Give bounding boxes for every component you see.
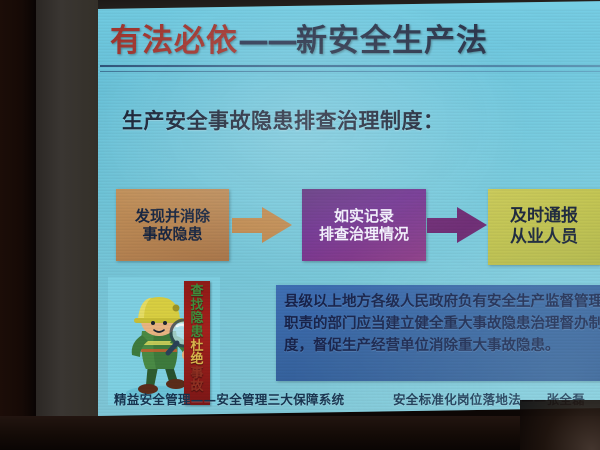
room-frame-left-dark (0, 0, 36, 450)
room-frame-left-panel (36, 0, 98, 450)
flow-box-discover-line2: 事故隐患 (142, 225, 202, 243)
flow-box-notify-line1: 及时通报 (510, 206, 578, 227)
flow-arrow-2-icon (427, 207, 487, 243)
room-frame-corner-highlight (520, 400, 600, 450)
banner-char-3: 患 (190, 326, 203, 340)
law-text-body: 县级以上地方各级人民政府负有安全生产监督管理职责的部门应当建立健全重大事故隐患治… (276, 285, 600, 357)
slide-title-sub: 新安全生产法 (296, 23, 488, 59)
slide-title: 有法必依——新安全生产法 (110, 15, 590, 60)
title-divider-line-2 (100, 71, 600, 72)
banner-char-5: 绝 (190, 353, 203, 367)
footer-left-text: 精益安全管理——安全管理三大保障系统 (114, 389, 344, 408)
projected-slide-photo: 有法必依——新安全生产法 生产安全事故隐患排查治理制度： 发现并消除 事故隐患 … (0, 0, 600, 450)
flow-box-discover: 发现并消除 事故隐患 (116, 189, 229, 261)
vertical-slogan-banner: 查 找 隐 患 杜 绝 事 故 (184, 281, 210, 405)
flow-box-record: 如实记录 排查治理情况 (302, 189, 426, 261)
flow-box-record-line1: 如实记录 (334, 207, 394, 225)
slide-title-dash: —— (238, 23, 296, 59)
flow-box-notify-line2: 从业人员 (510, 227, 578, 248)
flow-box-discover-line1: 发现并消除 (135, 207, 210, 225)
flow-box-record-line2: 排查治理情况 (319, 225, 409, 243)
flow-box-notify: 及时通报 从业人员 (488, 189, 600, 265)
projection-screen: 有法必依——新安全生产法 生产安全事故隐患排查治理制度： 发现并消除 事故隐患 … (98, 1, 600, 416)
banner-char-0: 查 (190, 285, 203, 299)
slide-subtitle: 生产安全事故隐患排查治理制度： (122, 105, 445, 135)
flow-arrow-1-icon (232, 207, 292, 243)
banner-char-2: 隐 (190, 312, 203, 326)
title-divider-line-1 (100, 65, 600, 67)
room-frame-bottom (0, 416, 600, 450)
slide-title-main: 有法必依 (110, 23, 238, 59)
law-text-panel: 县级以上地方各级人民政府负有安全生产监督管理职责的部门应当建立健全重大事故隐患治… (276, 285, 600, 381)
